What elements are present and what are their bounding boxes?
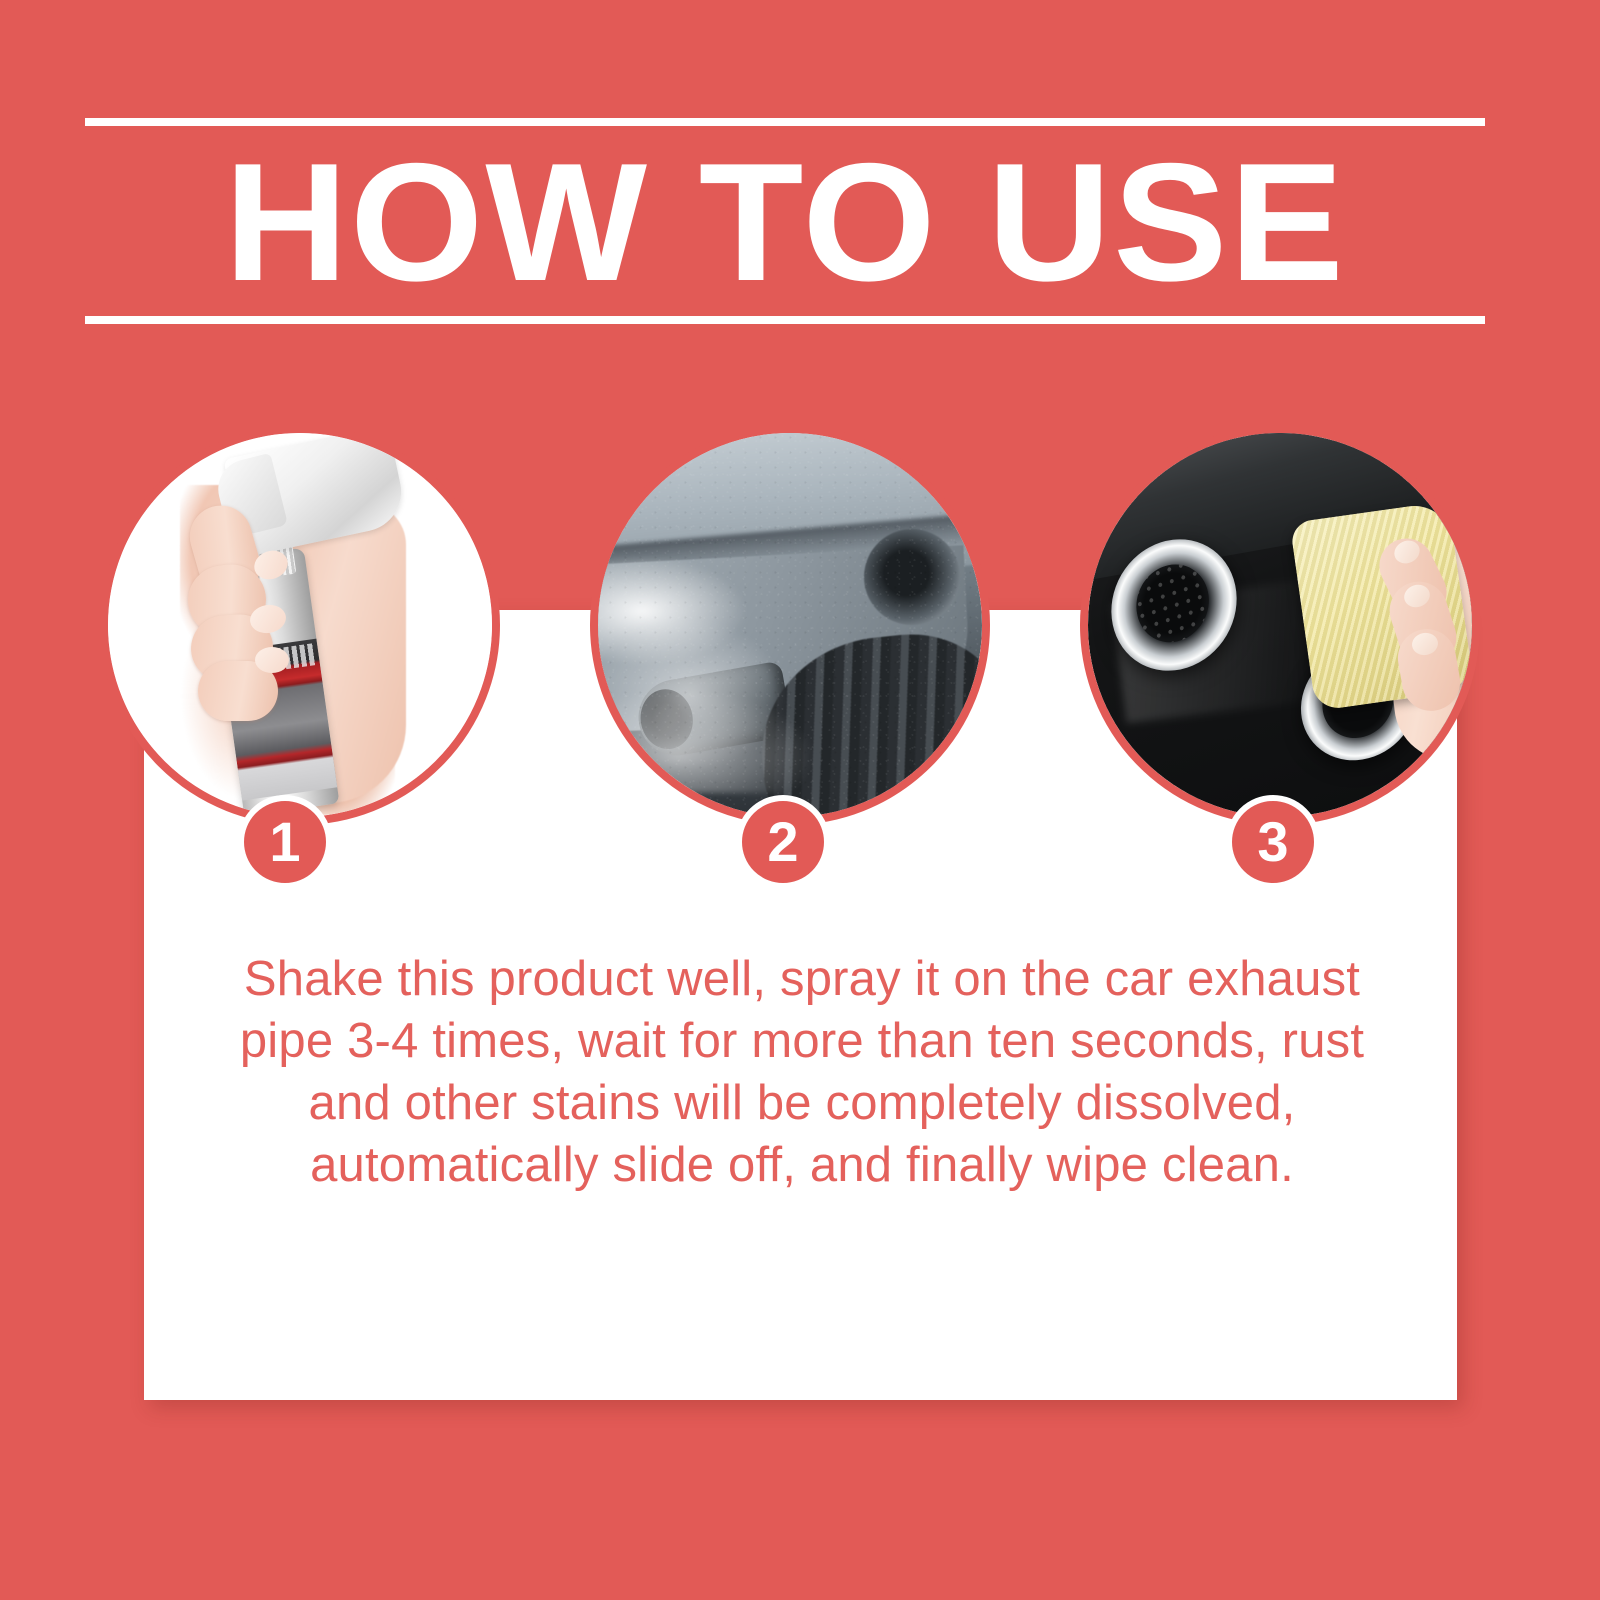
title-rule-bottom (85, 316, 1485, 324)
step-2 (590, 425, 990, 825)
how-to-use-poster: HOW TO USE (0, 0, 1600, 1600)
step-badge-1: 1 (238, 795, 332, 889)
step-2-photo-spraying-exhaust (590, 425, 990, 825)
fingernail (255, 647, 289, 673)
step-3 (1080, 425, 1480, 825)
title-rule-top (85, 118, 1485, 126)
instructions-text: Shake this product well, spray it on the… (232, 948, 1372, 1196)
step-badge-3: 3 (1226, 795, 1320, 889)
step-1-photo-spray-bottle (100, 425, 500, 825)
step-badge-2: 2 (736, 795, 830, 889)
page-title: HOW TO USE (71, 126, 1499, 316)
step-1 (100, 425, 500, 825)
header: HOW TO USE (85, 118, 1485, 324)
step-3-photo-wiping-exhaust (1080, 425, 1480, 825)
photo-grain (598, 433, 982, 817)
